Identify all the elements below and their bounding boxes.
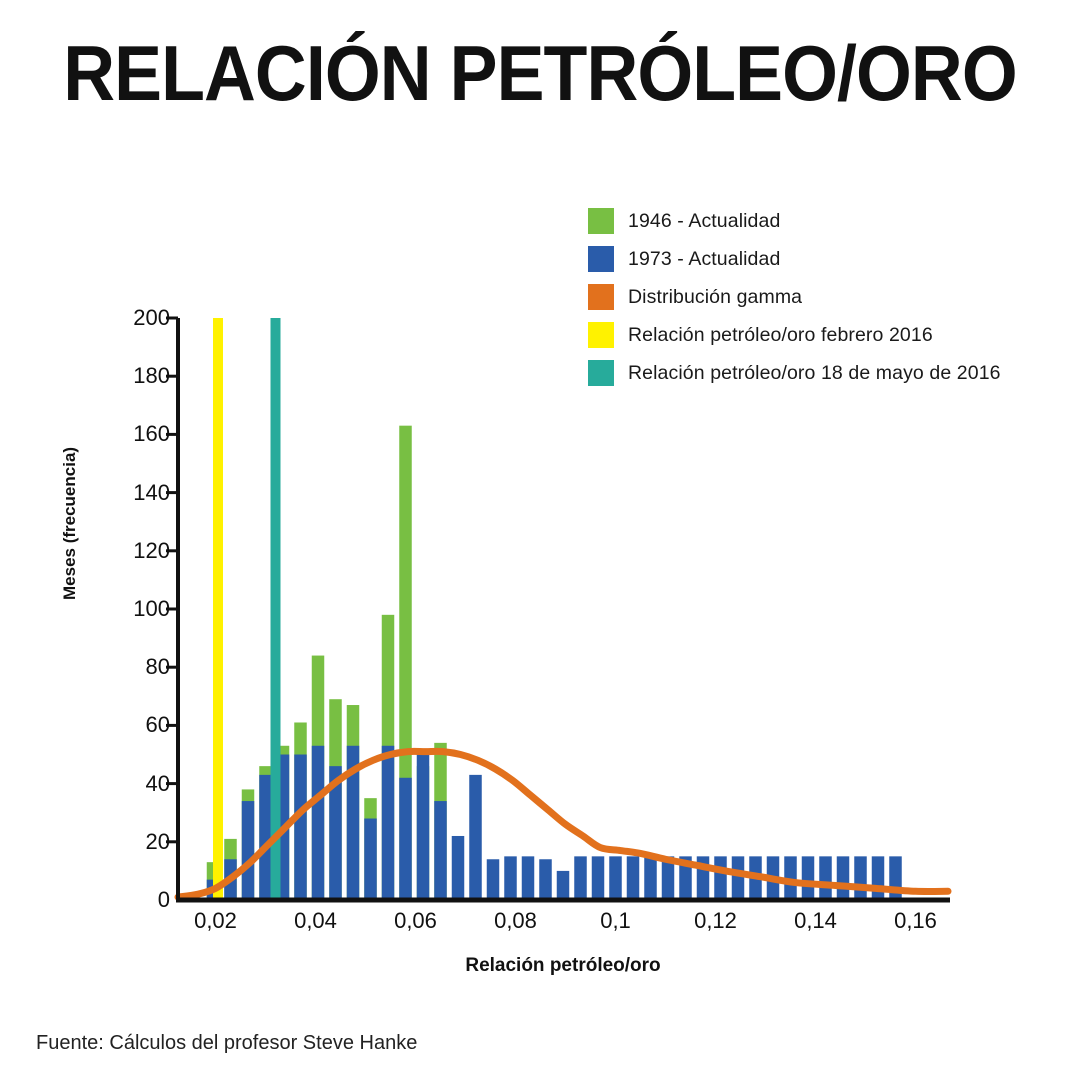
y-axis-title: Meses (frecuencia) xyxy=(60,447,80,600)
y-tick-label: 0 xyxy=(100,887,170,913)
bar-blue xyxy=(469,775,482,900)
x-tick-label: 0,04 xyxy=(271,908,361,934)
bar-blue xyxy=(539,859,552,900)
bar-blue xyxy=(592,856,605,900)
bar-blue xyxy=(732,856,745,900)
bar-blue xyxy=(627,856,640,900)
bar-blue xyxy=(609,856,622,900)
bar-blue xyxy=(872,856,885,900)
bar-blue xyxy=(364,819,377,900)
bar-blue xyxy=(382,746,395,900)
y-tick-label: 200 xyxy=(100,305,170,331)
x-tick-label: 0,16 xyxy=(871,908,961,934)
y-tick-label: 80 xyxy=(100,654,170,680)
y-tick-label: 100 xyxy=(100,596,170,622)
x-tick-label: 0,02 xyxy=(171,908,261,934)
bar-blue xyxy=(399,778,412,900)
x-tick-label: 0,06 xyxy=(371,908,461,934)
bar-blue xyxy=(417,749,430,900)
bar-blue xyxy=(644,856,657,900)
marker-line xyxy=(213,318,223,900)
bar-blue xyxy=(802,856,815,900)
x-tick-label: 0,08 xyxy=(471,908,561,934)
bars-group xyxy=(207,426,902,900)
y-tick-label: 40 xyxy=(100,771,170,797)
bar-blue xyxy=(434,801,447,900)
y-axis-ticks: 020406080100120140160180200 xyxy=(98,0,170,1080)
bar-blue xyxy=(819,856,832,900)
bar-blue xyxy=(242,801,255,900)
x-tick-label: 0,14 xyxy=(771,908,861,934)
y-tick-label: 180 xyxy=(100,363,170,389)
bar-blue xyxy=(294,755,307,901)
bar-blue xyxy=(522,856,535,900)
y-tick-label: 20 xyxy=(100,829,170,855)
bar-blue xyxy=(714,856,727,900)
bar-blue xyxy=(487,859,500,900)
x-tick-label: 0,12 xyxy=(671,908,761,934)
bar-blue xyxy=(452,836,465,900)
source-note: Fuente: Cálculos del profesor Steve Hank… xyxy=(36,1032,417,1055)
x-tick-label: 0,1 xyxy=(571,908,661,934)
x-axis-title: Relación petróleo/oro xyxy=(178,955,948,977)
bar-blue xyxy=(259,775,272,900)
y-tick-label: 140 xyxy=(100,480,170,506)
y-tick-label: 160 xyxy=(100,421,170,447)
marker-line xyxy=(271,318,281,900)
bar-blue xyxy=(557,871,570,900)
bar-blue xyxy=(312,746,325,900)
y-tick-label: 60 xyxy=(100,712,170,738)
bar-blue xyxy=(854,856,867,900)
bar-blue xyxy=(504,856,517,900)
bar-blue xyxy=(837,856,850,900)
bar-blue xyxy=(574,856,587,900)
y-tick-label: 120 xyxy=(100,538,170,564)
